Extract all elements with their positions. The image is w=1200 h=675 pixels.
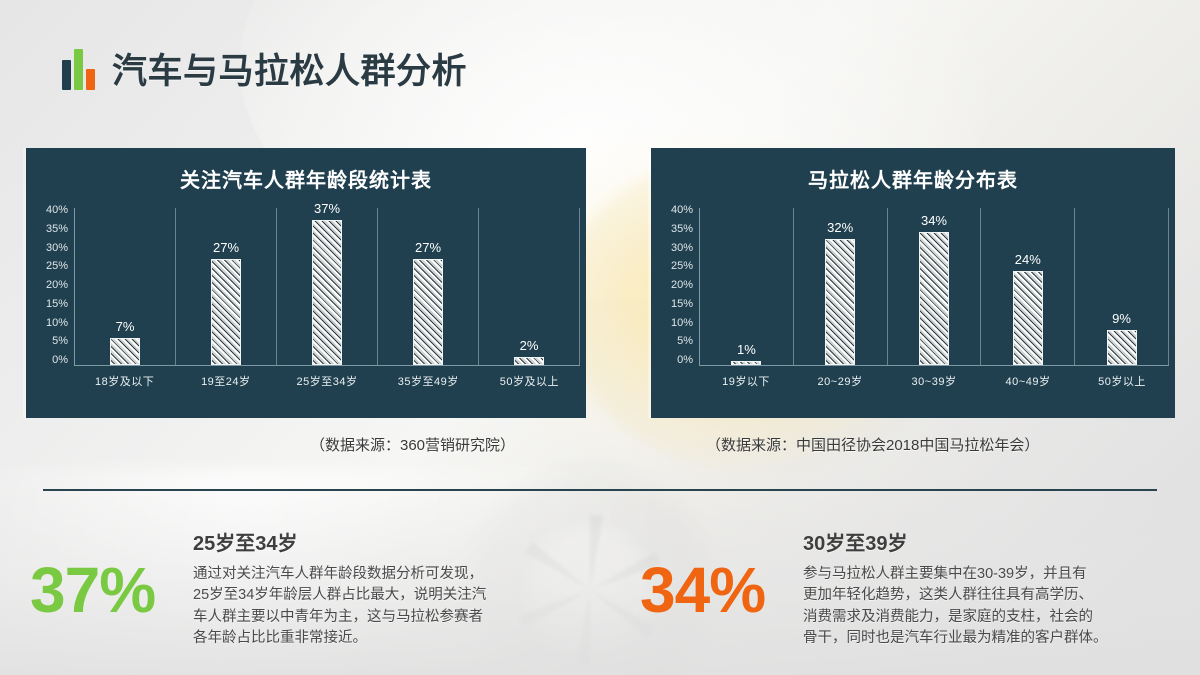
x-axis-labels: 18岁及以下 19至24岁 25岁至34岁 35岁至49岁 50岁及以上 xyxy=(74,373,580,389)
y-tick: 30% xyxy=(671,243,693,254)
chart-title: 关注汽车人群年龄段统计表 xyxy=(26,148,586,193)
bar-columns: 1% 32% 34% 24% xyxy=(700,208,1169,365)
y-tick: 5% xyxy=(52,336,68,347)
x-tick: 50岁及以上 xyxy=(479,373,580,389)
chart-plot-area: 40% 35% 30% 25% 20% 15% 10% 5% 0% 1% 32% xyxy=(651,205,1175,390)
chart-panel-marathon-audience: 马拉松人群年龄分布表 40% 35% 30% 25% 20% 15% 10% 5… xyxy=(651,148,1175,418)
x-tick: 19至24岁 xyxy=(175,373,276,389)
conclusion-line: 通过对关注汽车人群年龄段数据分析可发现， xyxy=(193,564,486,585)
x-tick: 19岁以下 xyxy=(699,373,793,389)
data-source-caption-right: （数据来源：中国田径协会2018中国马拉松年会） xyxy=(706,434,1039,455)
y-tick: 35% xyxy=(671,224,693,235)
bar: 27% xyxy=(413,259,443,365)
y-tick: 20% xyxy=(671,280,693,291)
chart-panel-auto-audience: 关注汽车人群年龄段统计表 40% 35% 30% 25% 20% 15% 10%… xyxy=(26,148,586,418)
y-tick: 25% xyxy=(671,261,693,272)
bar-value-label: 34% xyxy=(921,213,947,228)
conclusion-block-marathon: 34% 30岁至39岁 参与马拉松人群主要集中在30-39岁，并且有 更加年轻化… xyxy=(640,525,1185,650)
bar-value-label: 27% xyxy=(213,240,239,255)
bar: 2% xyxy=(514,357,544,365)
bar-value-label: 24% xyxy=(1015,252,1041,267)
x-tick: 20~29岁 xyxy=(793,373,887,389)
y-tick: 40% xyxy=(671,205,693,216)
conclusion-block-auto: 37% 25岁至34岁 通过对关注汽车人群年龄段数据分析可发现， 25岁至34岁… xyxy=(30,525,590,650)
conclusion-title: 25岁至34岁 xyxy=(193,527,486,556)
bar-value-label: 37% xyxy=(314,201,340,216)
bar: 37% xyxy=(312,220,342,365)
data-source-caption-left: （数据来源：360营销研究院） xyxy=(310,434,515,455)
bar-column: 27% xyxy=(176,208,277,365)
bar-value-label: 1% xyxy=(737,342,756,357)
bar-columns: 7% 27% 37% 27% xyxy=(75,208,580,365)
bar-column: 34% xyxy=(888,208,982,365)
bar: 32% xyxy=(825,239,855,365)
y-tick: 10% xyxy=(671,318,693,329)
bar-value-label: 9% xyxy=(1112,311,1131,326)
conclusion-line: 25岁至34岁年龄层人群占比最大，说明关注汽 xyxy=(193,585,486,606)
bar: 34% xyxy=(919,232,949,365)
conclusion-line: 骨干，同时也是汽车行业最为精准的客户群体。 xyxy=(803,628,1108,649)
x-tick: 25岁至34岁 xyxy=(276,373,377,389)
bar-column: 37% xyxy=(277,208,378,365)
bar-column: 1% xyxy=(700,208,794,365)
bar: 27% xyxy=(211,259,241,365)
y-tick: 25% xyxy=(46,261,68,272)
conclusion-text: 30岁至39岁 参与马拉松人群主要集中在30-39岁，并且有 更加年轻化趋势，这… xyxy=(803,525,1108,650)
y-tick: 10% xyxy=(46,318,68,329)
conclusion-body: 通过对关注汽车人群年龄段数据分析可发现， 25岁至34岁年龄层人群占比最大，说明… xyxy=(193,564,486,650)
conclusion-title: 30岁至39岁 xyxy=(803,527,1108,556)
bar-value-label: 2% xyxy=(520,338,539,353)
conclusion-body: 参与马拉松人群主要集中在30-39岁，并且有 更加年轻化趋势，这类人群往往具有高… xyxy=(803,564,1108,650)
section-divider xyxy=(43,489,1157,491)
bar: 1% xyxy=(731,361,761,365)
bar: 9% xyxy=(1107,330,1137,365)
x-tick: 40~49岁 xyxy=(981,373,1075,389)
bar-column: 9% xyxy=(1075,208,1169,365)
y-axis-ticks: 40% 35% 30% 25% 20% 15% 10% 5% 0% xyxy=(26,205,68,366)
bar-value-label: 32% xyxy=(827,220,853,235)
x-tick: 18岁及以下 xyxy=(74,373,175,389)
chart-plot-area: 40% 35% 30% 25% 20% 15% 10% 5% 0% 7% 27% xyxy=(26,205,586,390)
y-tick: 40% xyxy=(46,205,68,216)
bar-column: 32% xyxy=(794,208,888,365)
conclusion-line: 更加年轻化趋势，这类人群往往具有高学历、 xyxy=(803,585,1108,606)
x-tick: 50岁以上 xyxy=(1075,373,1169,389)
bar: 7% xyxy=(110,338,140,365)
x-tick: 30~39岁 xyxy=(887,373,981,389)
bar-chart-icon-bar-3 xyxy=(86,69,95,90)
bar-chart-icon-bar-2 xyxy=(74,49,83,90)
conclusion-line: 车人群主要以中青年为主，这与马拉松参赛者 xyxy=(193,607,486,628)
y-tick: 35% xyxy=(46,224,68,235)
y-tick: 15% xyxy=(671,299,693,310)
x-tick: 35岁至49岁 xyxy=(378,373,479,389)
y-axis-ticks: 40% 35% 30% 25% 20% 15% 10% 5% 0% xyxy=(651,205,693,366)
conclusion-line: 各年龄占比比重非常接近。 xyxy=(193,628,486,649)
bar-column: 24% xyxy=(981,208,1075,365)
chart-title: 马拉松人群年龄分布表 xyxy=(651,148,1175,193)
x-axis-labels: 19岁以下 20~29岁 30~39岁 40~49岁 50岁以上 xyxy=(699,373,1169,389)
conclusion-line: 消费需求及消费能力，是家庭的支柱，社会的 xyxy=(803,607,1108,628)
y-tick: 0% xyxy=(52,355,68,366)
y-tick: 20% xyxy=(46,280,68,291)
bar-chart-icon xyxy=(62,48,95,90)
highlight-percentage: 37% xyxy=(30,525,193,622)
bar-value-label: 27% xyxy=(415,240,441,255)
bar-chart-icon-bar-1 xyxy=(62,60,71,90)
conclusion-line: 参与马拉松人群主要集中在30-39岁，并且有 xyxy=(803,564,1108,585)
bar-value-label: 7% xyxy=(116,319,135,334)
y-tick: 15% xyxy=(46,299,68,310)
conclusion-text: 25岁至34岁 通过对关注汽车人群年龄段数据分析可发现， 25岁至34岁年龄层人… xyxy=(193,525,486,650)
bar-column: 2% xyxy=(479,208,580,365)
page-title: 汽车与马拉松人群分析 xyxy=(112,54,467,90)
bar-column: 27% xyxy=(378,208,479,365)
bar-column: 7% xyxy=(75,208,176,365)
chart-grid: 1% 32% 34% 24% xyxy=(699,208,1169,366)
y-tick: 30% xyxy=(46,243,68,254)
chart-grid: 7% 27% 37% 27% xyxy=(74,208,580,366)
slide-header: 汽车与马拉松人群分析 xyxy=(62,48,467,90)
bar: 24% xyxy=(1013,271,1043,365)
y-tick: 5% xyxy=(677,336,693,347)
y-tick: 0% xyxy=(677,355,693,366)
highlight-percentage: 34% xyxy=(640,525,803,622)
